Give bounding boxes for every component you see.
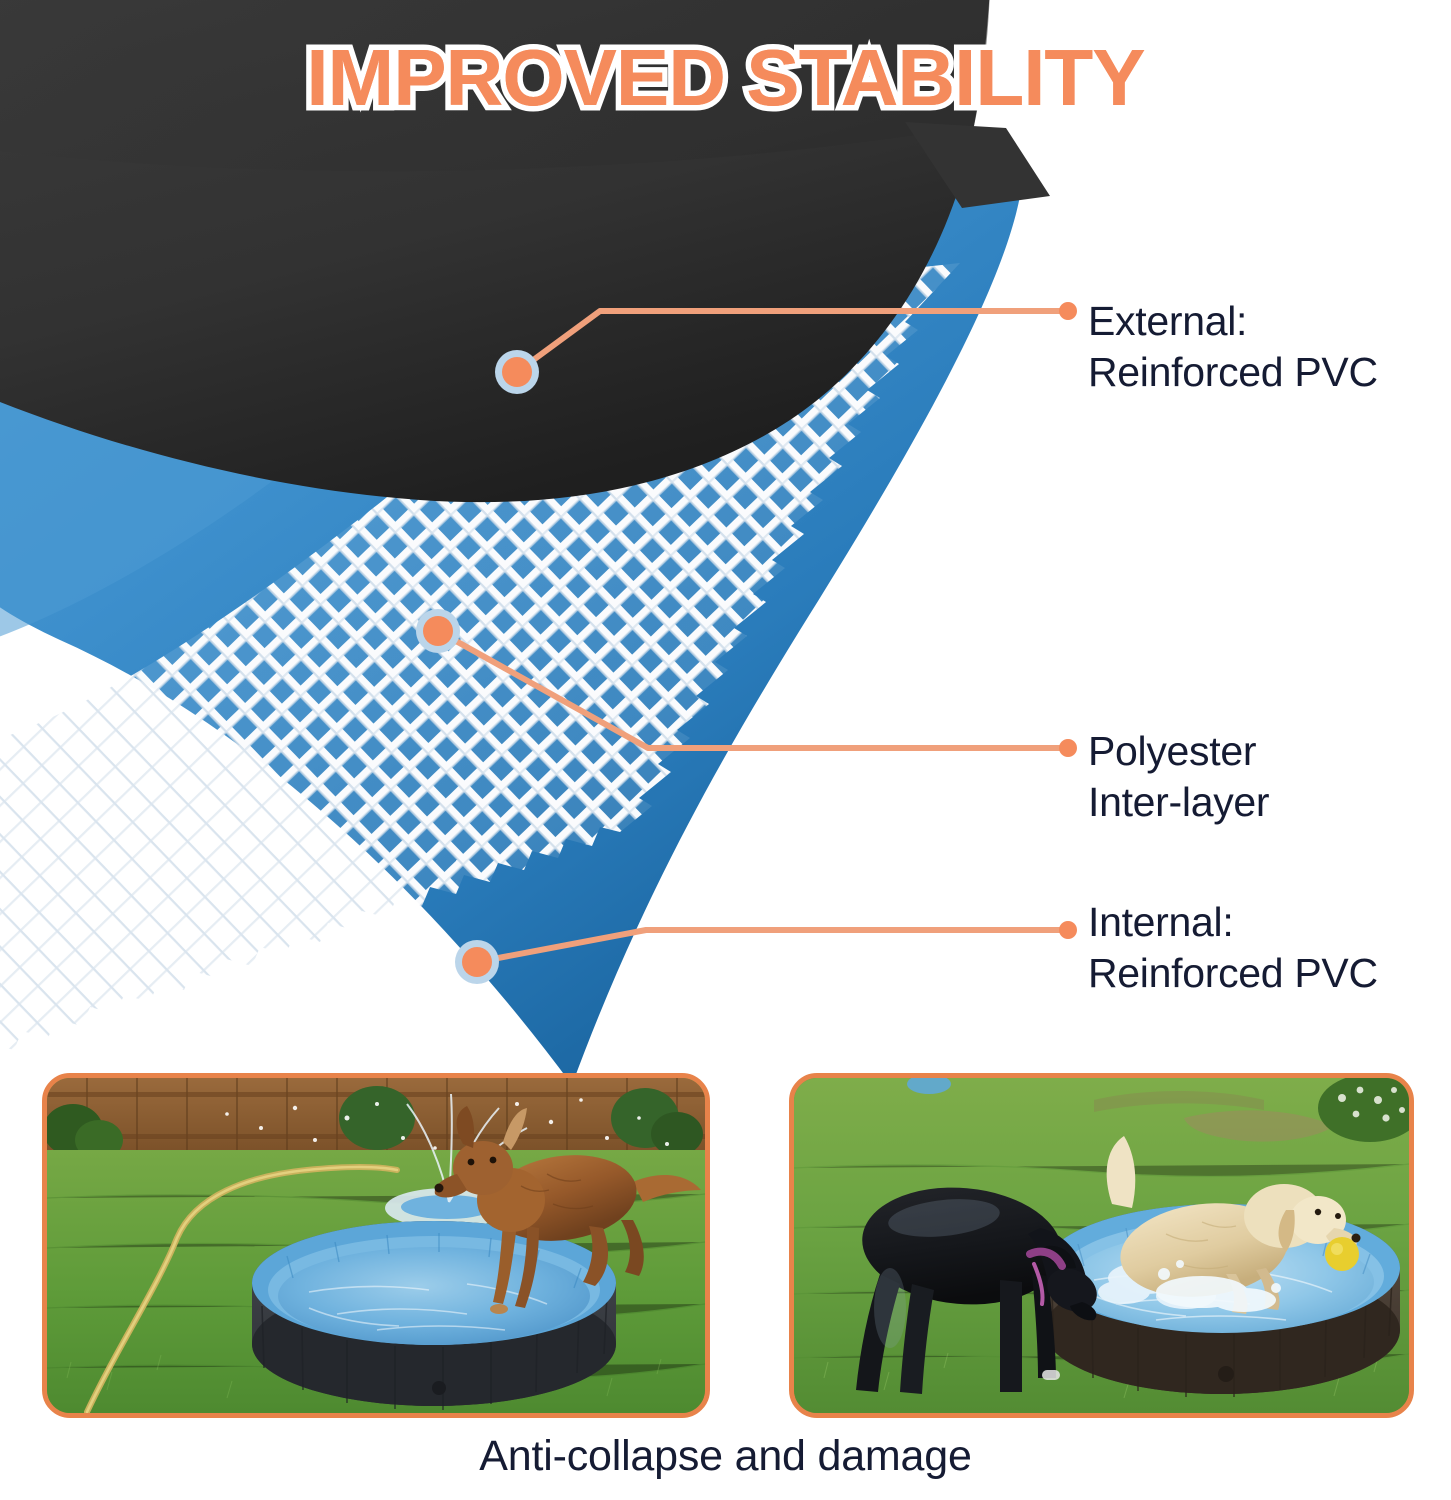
infographic-canvas: IMPROVED STABILITY IMPROVED STABILITY Ex…	[0, 0, 1451, 1500]
callout-label-internal: Internal: Reinforced PVC	[1088, 897, 1378, 999]
callout-label-external: External: Reinforced PVC	[1088, 296, 1378, 398]
product-photo-right	[789, 1073, 1414, 1418]
callout-label-polyester: Polyester Inter-layer	[1088, 726, 1269, 828]
page-title-outline: IMPROVED STABILITY	[0, 38, 1451, 118]
photo-caption: Anti-collapse and damage	[0, 1432, 1451, 1481]
product-photo-left	[42, 1073, 710, 1418]
product-photo-row	[0, 1073, 1451, 1423]
